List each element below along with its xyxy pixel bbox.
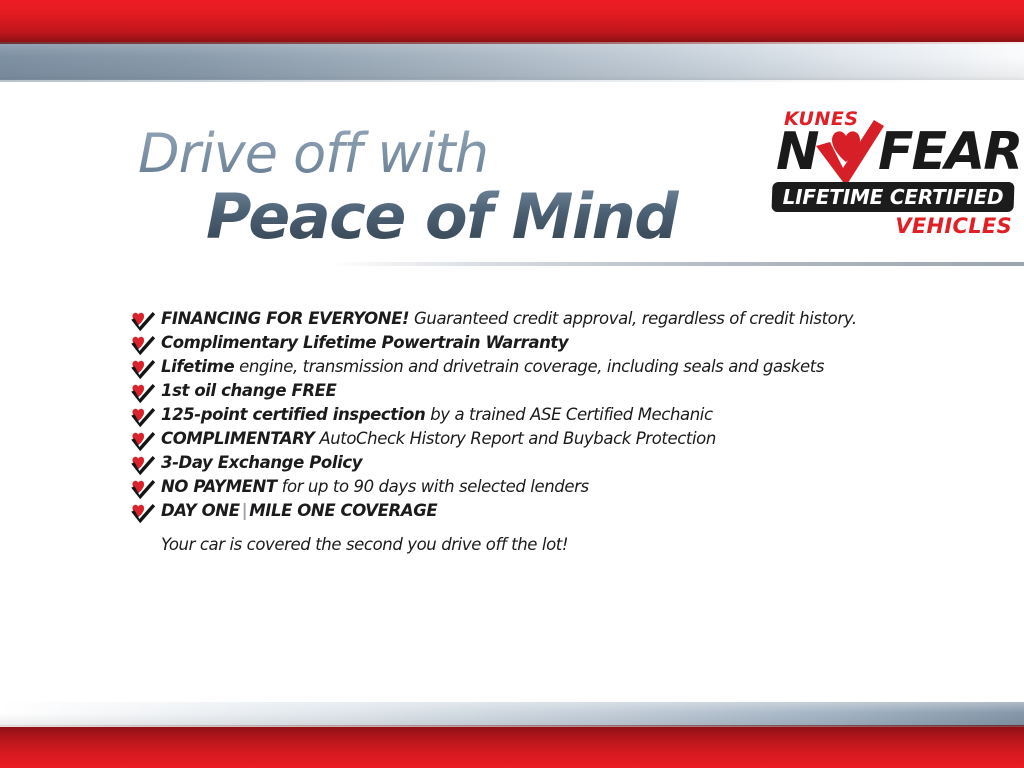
benefit-text: 1st oil change FREE bbox=[161, 380, 336, 402]
heart-check-bullet-icon bbox=[130, 334, 156, 356]
headline-block: Drive off with Peace of Mind bbox=[138, 126, 758, 250]
benefit-bold-secondary: MILE ONE COVERAGE bbox=[249, 501, 437, 520]
benefits-list: FINANCING FOR EVERYONE! Guaranteed credi… bbox=[130, 308, 930, 556]
benefit-bold: DAY ONE bbox=[161, 501, 240, 520]
heart-check-bullet-icon bbox=[130, 406, 156, 428]
bottom-gray-sheen bbox=[0, 702, 1024, 726]
top-red-stripe bbox=[0, 0, 1024, 42]
list-item: DAY ONE|MILE ONE COVERAGE Your car is co… bbox=[130, 500, 930, 556]
logo-lifetime-certified-text: LIFETIME CERTIFIED bbox=[772, 182, 1014, 212]
benefit-text: Lifetime engine, transmission and drivet… bbox=[161, 356, 824, 378]
heart-check-bullet-icon bbox=[130, 454, 156, 476]
top-banner bbox=[0, 0, 1024, 82]
list-item: NO PAYMENT for up to 90 days with select… bbox=[130, 476, 930, 500]
headline-line-1: Drive off with bbox=[138, 126, 758, 182]
benefit-text: FINANCING FOR EVERYONE! Guaranteed credi… bbox=[161, 308, 857, 330]
headline-divider bbox=[330, 262, 1024, 266]
list-item: 125-point certified inspection by a trai… bbox=[130, 404, 930, 428]
benefit-rest: AutoCheck History Report and Buyback Pro… bbox=[314, 429, 715, 448]
benefit-rest: engine, transmission and drivetrain cove… bbox=[234, 357, 824, 376]
benefit-subtext: Your car is covered the second you drive… bbox=[161, 534, 930, 556]
benefit-text: 3-Day Exchange Policy bbox=[161, 452, 362, 474]
benefit-rest: by a trained ASE Certified Mechanic bbox=[425, 405, 712, 424]
list-item: Complimentary Lifetime Powertrain Warran… bbox=[130, 332, 930, 356]
heart-checkmark-icon bbox=[810, 120, 886, 188]
list-item: 1st oil change FREE bbox=[130, 380, 930, 404]
benefit-bold: 125-point certified inspection bbox=[161, 405, 425, 424]
benefit-rest: for up to 90 days with selected lenders bbox=[277, 477, 589, 496]
benefit-bold: 1st oil change FREE bbox=[161, 381, 336, 400]
benefit-text: DAY ONE|MILE ONE COVERAGE bbox=[161, 500, 437, 522]
benefit-pipe-separator: | bbox=[240, 501, 250, 520]
logo-no-fear-wordmark: N FEAR bbox=[776, 126, 1016, 182]
bottom-red-stripe bbox=[0, 727, 1024, 768]
advertisement-canvas: Drive off with Peace of Mind KUNES N FEA… bbox=[0, 0, 1024, 768]
list-item: FINANCING FOR EVERYONE! Guaranteed credi… bbox=[130, 308, 930, 332]
benefit-bold: 3-Day Exchange Policy bbox=[161, 453, 362, 472]
heart-check-bullet-icon bbox=[130, 502, 156, 524]
benefit-text: NO PAYMENT for up to 90 days with select… bbox=[161, 476, 589, 498]
benefit-bold: NO PAYMENT bbox=[161, 477, 277, 496]
top-gray-edge-line bbox=[0, 79, 1024, 82]
logo-vehicles-text: VEHICLES bbox=[895, 214, 1012, 238]
benefit-text: 125-point certified inspection by a trai… bbox=[161, 404, 713, 426]
heart-check-bullet-icon bbox=[130, 478, 156, 500]
headline-line-2: Peace of Mind bbox=[206, 184, 758, 250]
logo-word-fear: FEAR bbox=[878, 126, 1021, 178]
kunes-no-fear-logo: KUNES N FEAR LIFETIME CERTIFIED VEHICLES bbox=[772, 108, 1016, 248]
list-item: 3-Day Exchange Policy bbox=[130, 452, 930, 476]
list-item: Lifetime engine, transmission and drivet… bbox=[130, 356, 930, 380]
benefit-bold: COMPLIMENTARY bbox=[161, 429, 314, 448]
heart-check-bullet-icon bbox=[130, 310, 156, 332]
top-gray-sheen bbox=[0, 44, 1024, 80]
benefit-bold: FINANCING FOR EVERYONE! bbox=[161, 309, 409, 328]
heart-check-bullet-icon bbox=[130, 358, 156, 380]
benefit-bold: Complimentary Lifetime Powertrain Warran… bbox=[161, 333, 568, 352]
bottom-banner bbox=[0, 690, 1024, 768]
heart-check-bullet-icon bbox=[130, 430, 156, 452]
benefit-bold: Lifetime bbox=[161, 357, 234, 376]
heart-check-bullet-icon bbox=[130, 382, 156, 404]
benefit-rest: Guaranteed credit approval, regardless o… bbox=[409, 309, 857, 328]
list-item: COMPLIMENTARY AutoCheck History Report a… bbox=[130, 428, 930, 452]
benefit-text: Complimentary Lifetime Powertrain Warran… bbox=[161, 332, 568, 354]
benefit-text: COMPLIMENTARY AutoCheck History Report a… bbox=[161, 428, 716, 450]
